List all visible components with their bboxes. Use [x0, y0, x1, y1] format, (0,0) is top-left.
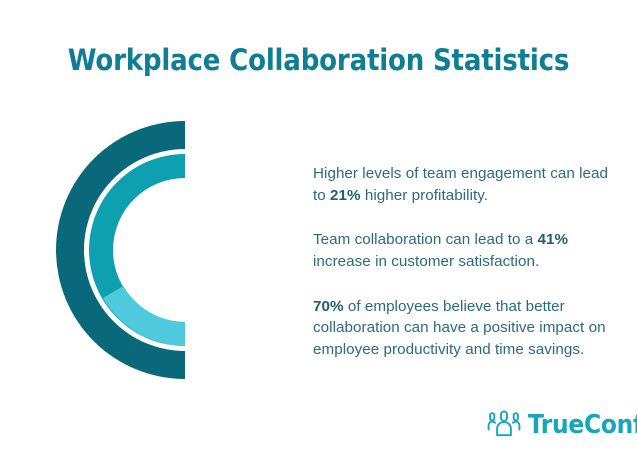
stat-text-profitability: Higher levels of team engagement can lea… [313, 163, 609, 206]
radial-bar-chart-svg [28, 106, 318, 406]
stat-value-70-percent: 70% [313, 298, 344, 315]
stat-after-text: increase in customer satisfaction. [313, 253, 539, 270]
list-item: Team collaboration can lead to a 41% inc… [313, 229, 609, 272]
trueconf-wordmark: TrueConf [528, 412, 637, 438]
group-of-people-icon [487, 410, 521, 440]
nested-radial-chart [28, 106, 318, 406]
list-item: 70% of employees believe that better col… [313, 296, 609, 361]
stat-text-productivity: 70% of employees believe that better col… [313, 296, 609, 361]
statistics-list: Higher levels of team engagement can lea… [313, 148, 609, 375]
trueconf-logo: TrueConf [487, 410, 637, 440]
list-item: Higher levels of team engagement can lea… [313, 163, 609, 206]
stat-value-21-percent: 21% [330, 187, 361, 204]
stat-after-text: of employees believe that better collabo… [313, 298, 606, 358]
stat-value-41-percent: 41% [538, 231, 569, 248]
stat-before-text: Team collaboration can lead to a [313, 231, 538, 248]
page-title: Workplace Collaboration Statistics [0, 43, 637, 77]
infographic-page: Workplace Collaboration Statistics Highe… [0, 0, 637, 470]
stat-after-text: higher profitability. [361, 187, 488, 204]
stat-text-customer-satisfaction: Team collaboration can lead to a 41% inc… [313, 229, 609, 272]
